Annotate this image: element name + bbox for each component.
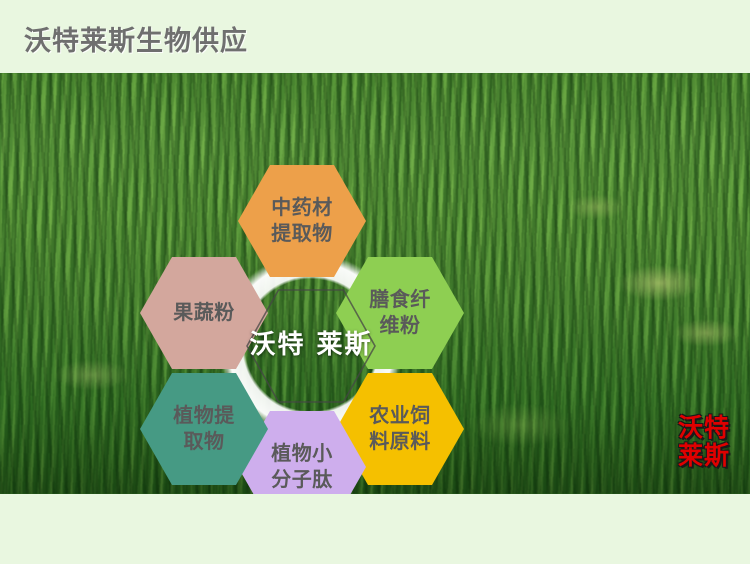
hex-label-line1: 植物小 xyxy=(263,441,341,467)
hex-label-line1: 果蔬粉 xyxy=(165,300,243,326)
watermark-line2: 莱斯 xyxy=(678,442,730,470)
product-hexagon-diagram: 果蔬粉 中药材 提取物 膳食纤 维粉 农业饲 料原料 xyxy=(128,161,494,494)
hex-label-line2: 提取物 xyxy=(263,221,341,247)
brand-watermark: 沃特 莱斯 xyxy=(678,414,730,470)
footer-bar xyxy=(0,494,750,564)
hex-label-line2: 取物 xyxy=(165,429,243,455)
background-photo: 果蔬粉 中药材 提取物 膳食纤 维粉 农业饲 料原料 xyxy=(0,73,750,494)
hex-label-line1: 中药材 xyxy=(263,195,341,221)
watermark-line1: 沃特 xyxy=(678,414,730,442)
hex-center-brand[interactable]: 沃特 莱斯 xyxy=(246,289,376,403)
hex-label-line1: 农业饲 xyxy=(361,403,439,429)
hex-label-line1: 植物提 xyxy=(165,403,243,429)
header-bar: 沃特莱斯生物供应 xyxy=(0,0,750,73)
hex-label-line2: 料原料 xyxy=(361,429,439,455)
slide-canvas: 沃特莱斯生物供应 果蔬粉 中药材 提取物 膳食纤 xyxy=(0,0,750,564)
center-label-line2: 莱斯 xyxy=(317,330,373,360)
center-label-line1: 沃特 xyxy=(249,330,305,360)
hex-label-line2: 分子肽 xyxy=(263,467,341,493)
page-title: 沃特莱斯生物供应 xyxy=(24,19,248,58)
